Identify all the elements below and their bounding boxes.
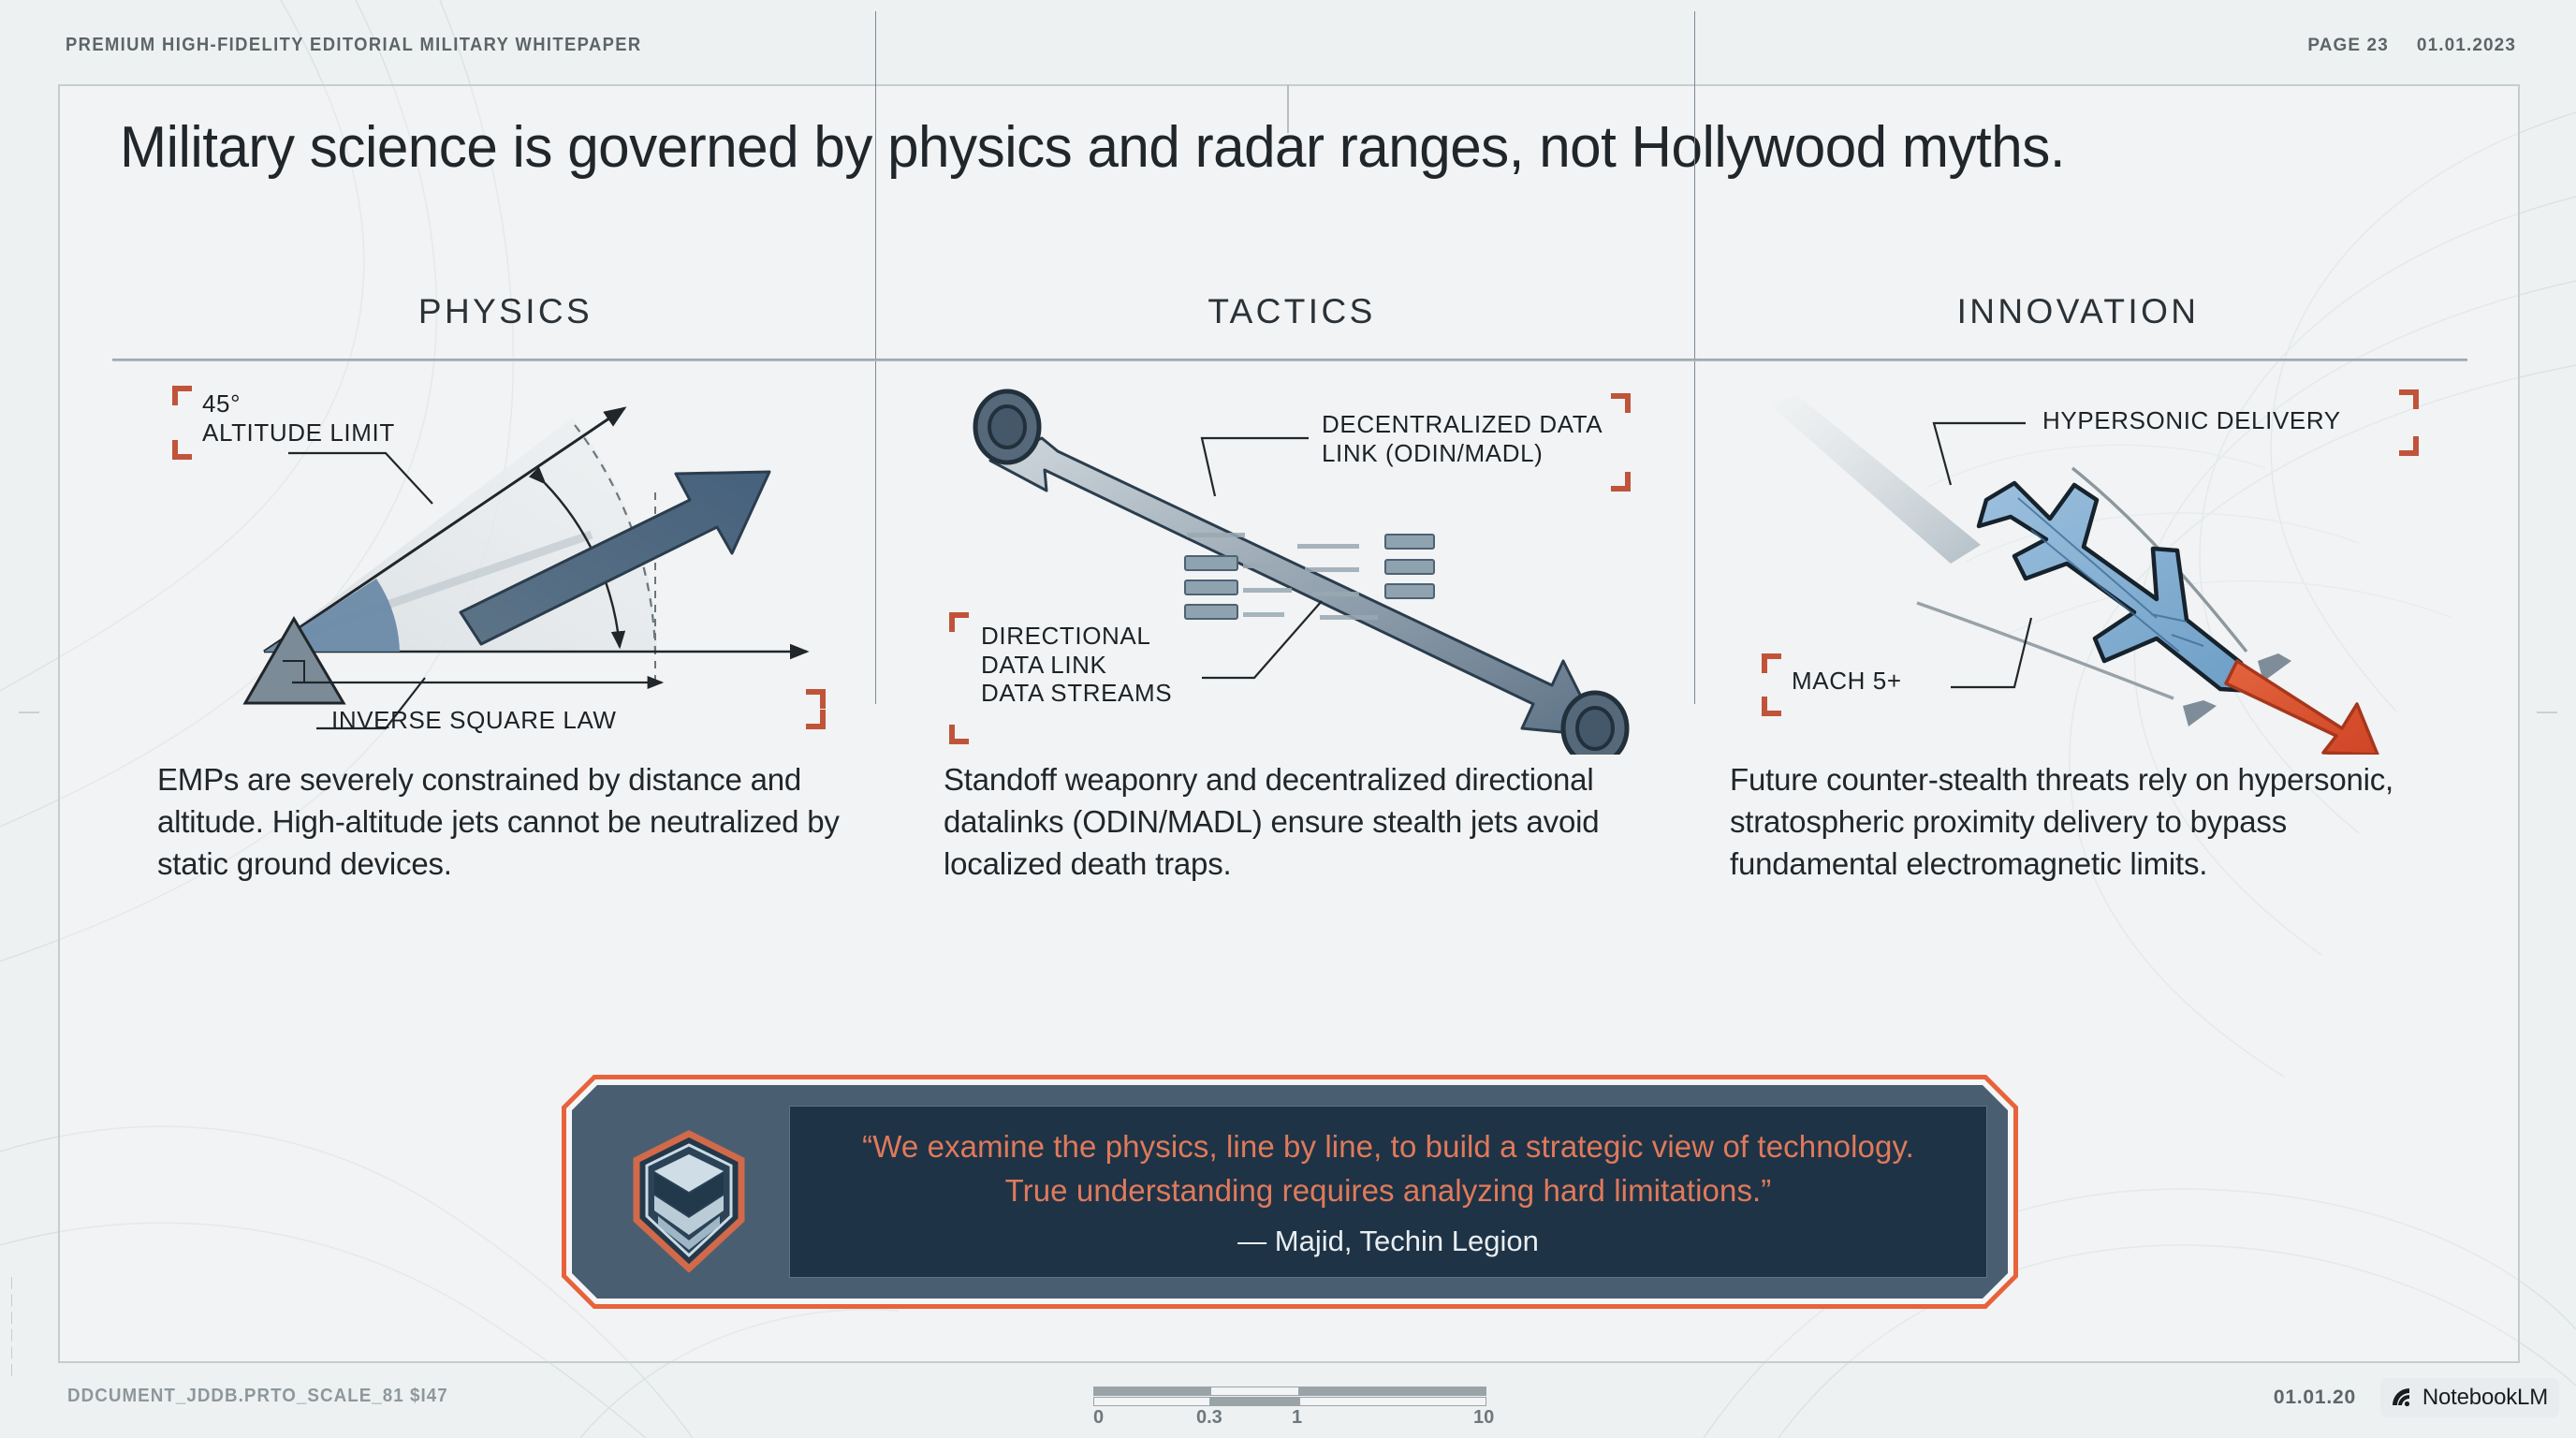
column-header-rule (112, 359, 2467, 361)
column-title-tactics: TACTICS (944, 271, 1640, 331)
column-tactics: TACTICS (899, 271, 1685, 1020)
scale-labels: 0 0.3 1 10 (1093, 1407, 1486, 1428)
bracket-bottom-left-tactics (949, 725, 969, 744)
bracket-top-right-tactics (1611, 393, 1631, 413)
bracket-top-left-tactics (949, 612, 969, 632)
bracket-top-right-innovation (2399, 389, 2419, 409)
scale-label-03: 0.3 (1196, 1407, 1222, 1429)
column-title-physics: PHYSICS (157, 271, 854, 331)
bracket-bottom-right-tactics (1611, 472, 1631, 492)
footer-date-label: 01.01.20 (2274, 1387, 2356, 1409)
frame-right-tick (2537, 712, 2557, 713)
quote-text-panel: “We examine the physics, line by line, t… (789, 1106, 1987, 1278)
notebooklm-icon (2390, 1386, 2414, 1410)
page-header: PREMIUM HIGH-FIDELITY EDITORIAL MILITARY… (0, 0, 2576, 86)
column-innovation: INNOVATION (1685, 271, 2471, 1020)
column-physics: PHYSICS (112, 271, 899, 1020)
column-divider-2 (1694, 11, 1695, 704)
scale-bar-top-c (1299, 1387, 1486, 1396)
bracket-bottom-right-innovation (2399, 436, 2419, 456)
column-body-physics: EMPs are severely constrained by distanc… (157, 759, 854, 886)
quote-text: “We examine the physics, line by line, t… (836, 1125, 1940, 1213)
bracket-top-right-physics (806, 689, 826, 709)
notebooklm-watermark: NotebookLM (2380, 1378, 2559, 1417)
column-title-innovation: INNOVATION (1730, 271, 2426, 331)
scale-bar-bottom-b (1210, 1397, 1299, 1406)
bracket-bottom-right-physics (806, 710, 826, 729)
scale-bar-top-b (1210, 1387, 1299, 1396)
column-body-innovation: Future counter-stealth threats rely on h… (1730, 759, 2426, 886)
bracket-top-left-innovation (1762, 653, 1781, 673)
bracket-bottom-left-innovation (1762, 697, 1781, 716)
scale-bars (1093, 1387, 1486, 1407)
side-watermark: — — — — — — (4, 1105, 26, 1376)
header-meta: PAGE 23 01.01.2023 (2307, 36, 2516, 56)
annotation-directional-data-link: DIRECTIONAL DATA LINK DATA STREAMS (981, 622, 1172, 708)
column-divider-1 (875, 11, 876, 704)
innovation-diagram: HYPERSONIC DELIVERY MACH 5+ (1730, 380, 2426, 759)
header-publication-label: PREMIUM HIGH-FIDELITY EDITORIAL MILITARY… (66, 35, 642, 56)
columns-container: PHYSICS (112, 271, 2471, 1020)
scale-bar-bottom-c (1299, 1397, 1486, 1406)
notebooklm-label: NotebookLM (2422, 1385, 2548, 1411)
bracket-top-left-physics (172, 386, 192, 405)
column-body-tactics: Standoff weaponry and decentralized dire… (944, 759, 1640, 886)
annotation-decentralized-data-link: DECENTRALIZED DATA LINK (ODIN/MADL) (1322, 410, 1603, 467)
annotation-inverse-square-law: INVERSE SQUARE LAW (331, 706, 617, 735)
annotation-altitude-limit: 45° ALTITUDE LIMIT (202, 389, 395, 447)
quote-attribution: — Majid, Techin Legion (1237, 1225, 1539, 1258)
bracket-bottom-left-physics (172, 440, 192, 460)
annotation-mach-speed: MACH 5+ (1792, 667, 1902, 696)
scale-bar-bottom-a (1093, 1397, 1210, 1406)
page-title: Military science is governed by physics … (120, 114, 2408, 181)
footer-document-code: DDCUMENT_JDDB.PRTO_SCALE_81 $I47 (67, 1386, 448, 1407)
scale-label-0: 0 (1093, 1407, 1104, 1429)
header-date-label: 01.01.2023 (2417, 36, 2516, 56)
page-number-label: PAGE 23 (2307, 36, 2389, 56)
quote-banner: “We examine the physics, line by line, t… (562, 1075, 2018, 1309)
tactics-diagram: DECENTRALIZED DATA LINK (ODIN/MADL) DIRE… (944, 380, 1640, 759)
shield-emblem-icon (630, 1130, 748, 1272)
scale-bar-top-a (1093, 1387, 1210, 1396)
scale-label-10: 10 (1473, 1407, 1494, 1429)
quote-body-panel: “We examine the physics, line by line, t… (572, 1085, 2008, 1299)
frame-left-tick (19, 712, 39, 713)
annotation-hypersonic-delivery: HYPERSONIC DELIVERY (2042, 406, 2341, 435)
scale-label-1: 1 (1292, 1407, 1302, 1429)
scale-ruler: 0 0.3 1 10 (1093, 1387, 1486, 1428)
physics-diagram: 45° ALTITUDE LIMIT INVERSE SQUARE LAW (157, 380, 854, 759)
